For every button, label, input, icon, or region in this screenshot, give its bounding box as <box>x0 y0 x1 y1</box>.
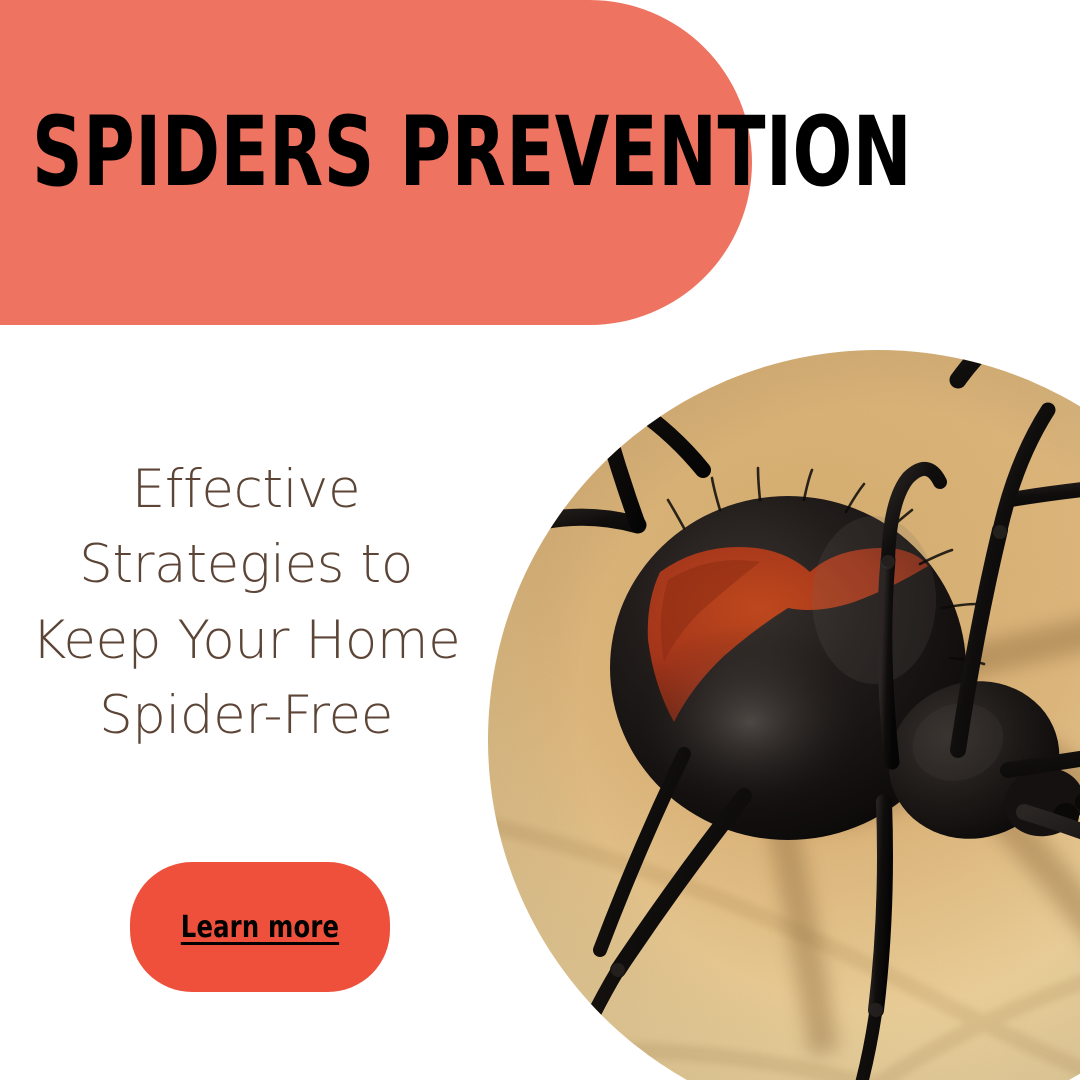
subtitle-line-3: Keep Your Home <box>0 603 492 678</box>
spider-photo <box>488 350 1080 1080</box>
learn-more-button[interactable]: Learn more <box>130 862 390 992</box>
subtitle-text: Effective Strategies to Keep Your Home S… <box>0 452 492 753</box>
subtitle-line-1: Effective <box>0 452 492 527</box>
page-title: SPIDERS PREVENTION <box>32 104 912 200</box>
learn-more-label: Learn more <box>181 910 339 945</box>
subtitle-line-2: Strategies to <box>0 527 492 602</box>
poster-canvas: SPIDERS PREVENTION Effective Strategies … <box>0 0 1080 1080</box>
subtitle-line-4: Spider-Free <box>0 678 492 753</box>
